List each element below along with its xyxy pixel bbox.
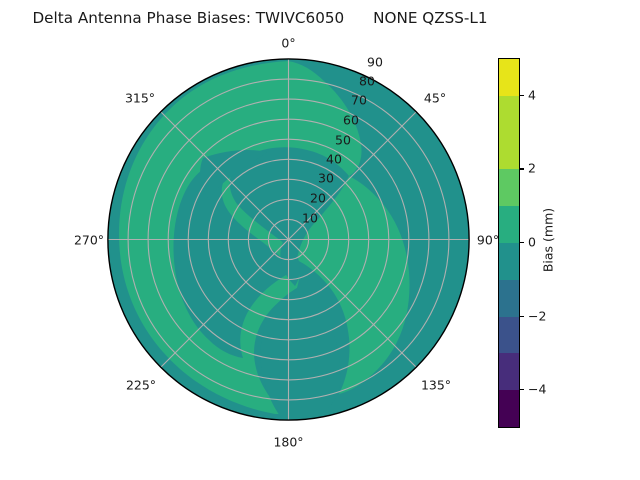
r-tick-50: 50 — [335, 133, 351, 148]
colorbar-band-6 — [499, 280, 519, 317]
polar-grid-spokes — [108, 59, 469, 420]
theta-tick-0: 0° — [281, 36, 295, 51]
colorbar-band-2 — [499, 133, 519, 170]
theta-tick-180: 180° — [273, 435, 303, 450]
r-tick-80: 80 — [359, 74, 375, 89]
r-tick-10: 10 — [302, 211, 318, 226]
colorbar-gradient[interactable] — [498, 58, 520, 428]
colorbar-tick-label-3: 2 — [528, 161, 536, 176]
theta-tick-270: 270° — [74, 232, 104, 247]
colorbar-tick-mark-0 — [520, 389, 524, 390]
colorbar[interactable]: −4−2024 — [498, 58, 520, 428]
r-tick-20: 20 — [310, 191, 326, 206]
r-tick-30: 30 — [318, 171, 334, 186]
theta-tick-225: 225° — [126, 378, 156, 393]
colorbar-tick-label-4: 4 — [528, 87, 536, 102]
colorbar-band-1 — [499, 96, 519, 133]
colorbar-band-4 — [499, 206, 519, 243]
colorbar-band-0 — [499, 59, 519, 96]
colorbar-tick-mark-3 — [520, 168, 524, 169]
r-tick-60: 60 — [343, 113, 359, 128]
colorbar-axis-label: Bias (mm) — [541, 208, 556, 272]
colorbar-band-8 — [499, 353, 519, 390]
figure-canvas: Delta Antenna Phase Biases: TWIVC6050 NO… — [0, 0, 640, 480]
r-tick-40: 40 — [326, 152, 342, 167]
polar-plot-axes[interactable]: 0° 45° 90° 135° 180° 225° 270° 315° 10 2… — [107, 58, 470, 421]
colorbar-tick-label-1: −2 — [528, 308, 546, 323]
colorbar-tick-mark-1 — [520, 316, 524, 317]
colorbar-tick-mark-4 — [520, 95, 524, 96]
colorbar-tick-label-0: −4 — [528, 382, 546, 397]
page-title: Delta Antenna Phase Biases: TWIVC6050 NO… — [0, 9, 520, 27]
theta-tick-90: 90° — [477, 232, 499, 247]
polar-heatmap — [107, 58, 470, 421]
colorbar-band-7 — [499, 317, 519, 354]
theta-tick-45: 45° — [424, 91, 446, 106]
colorbar-band-9 — [499, 390, 519, 427]
colorbar-band-5 — [499, 243, 519, 280]
theta-tick-135: 135° — [421, 378, 451, 393]
r-tick-70: 70 — [351, 93, 367, 108]
theta-tick-315: 315° — [125, 91, 155, 106]
colorbar-band-3 — [499, 169, 519, 206]
colorbar-tick-mark-2 — [520, 242, 524, 243]
r-tick-90: 90 — [367, 55, 383, 70]
colorbar-tick-label-2: 0 — [528, 235, 536, 250]
